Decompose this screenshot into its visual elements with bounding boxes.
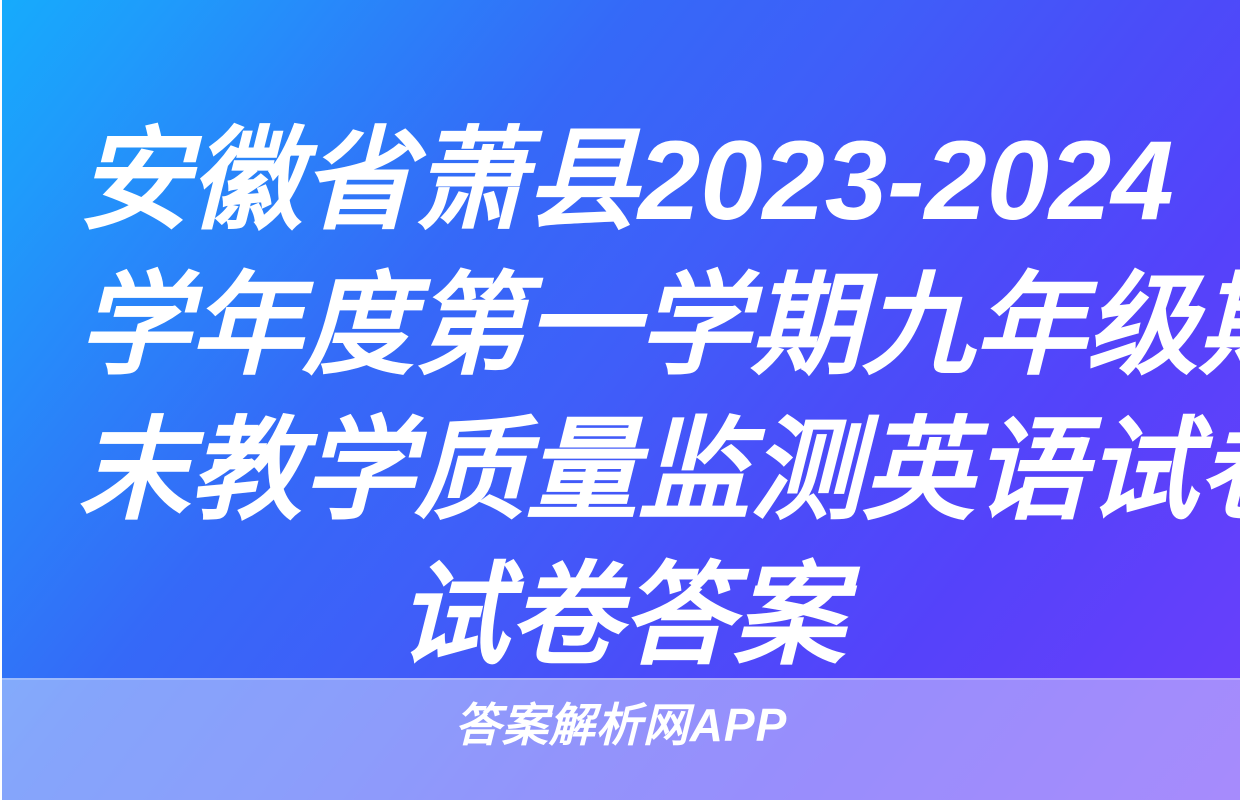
title-card: 安徽省萧县2023-2024 学年度第一学期九年级期 末教学质量监测英语试卷 试… bbox=[0, 0, 1242, 800]
watermark-brand-label: 答案解析网APP bbox=[0, 694, 1242, 756]
overlay-top-edge-divider bbox=[2, 678, 1240, 680]
